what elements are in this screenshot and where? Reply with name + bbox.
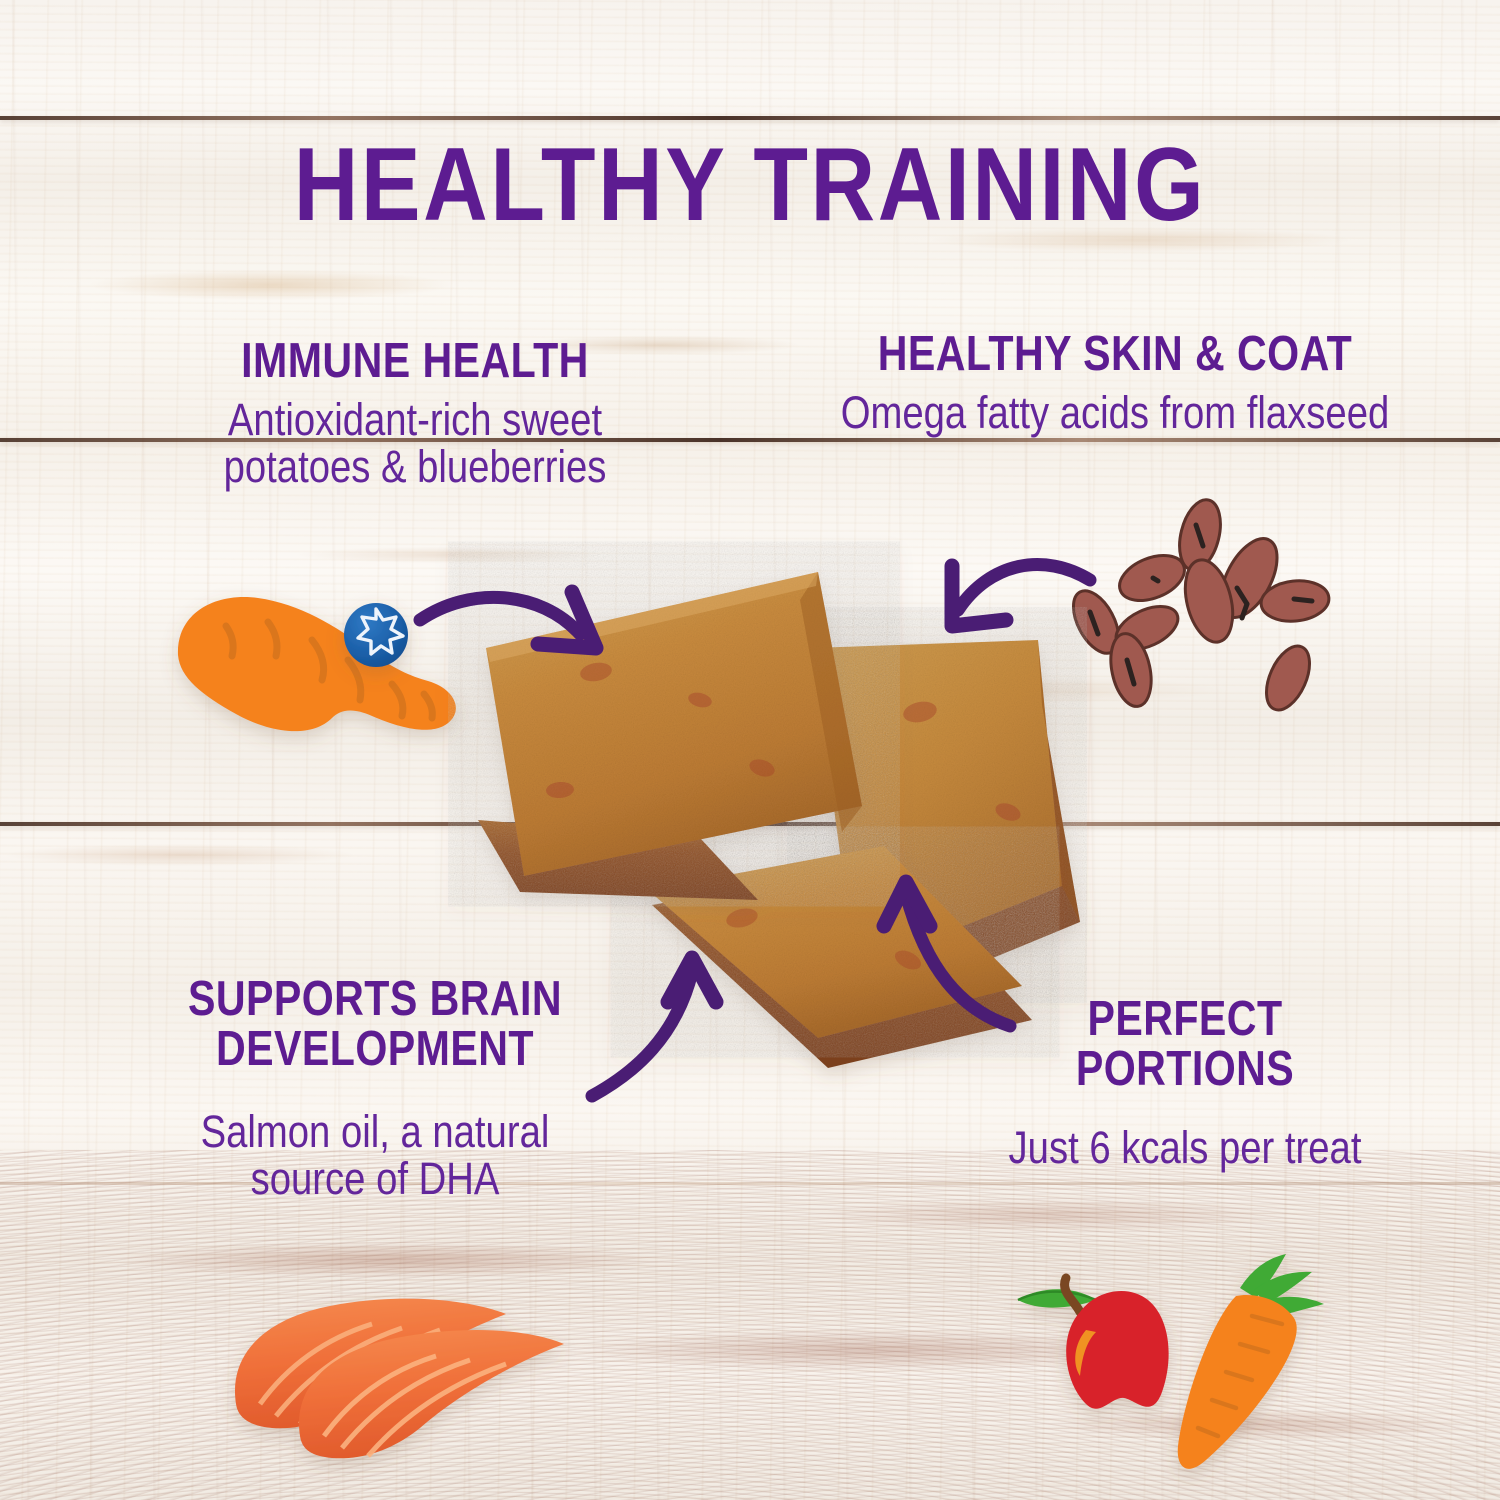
feature-heading-portions-line2: PORTIONS: [925, 1045, 1446, 1095]
plank-seam: [0, 822, 1500, 826]
feature-body-perfect-portions: Just 6 kcals per treat: [922, 1123, 1449, 1174]
feature-body-brain-line2: source of DHA: [95, 1154, 656, 1205]
feature-body-immune-health-line1: Antioxidant-rich sweet: [96, 395, 734, 446]
plank-seam: [0, 116, 1500, 120]
feature-supports-brain-development: SUPPORTS BRAIN DEVELOPMENT Salmon oil, a…: [45, 975, 705, 1205]
feature-heading-brain-line1: SUPPORTS BRAIN: [98, 975, 652, 1025]
feature-heading-healthy-skin-coat: HEALTHY SKIN & COAT: [796, 330, 1434, 380]
infographic-canvas: HEALTHY TRAINING IMMUNE HEALTH Antioxida…: [0, 0, 1500, 1500]
feature-heading-immune-health: IMMUNE HEALTH: [100, 337, 730, 387]
page-title: HEALTHY TRAINING: [105, 136, 1395, 235]
feature-heading-portions-line1: PERFECT: [925, 995, 1446, 1045]
feature-body-brain-line1: Salmon oil, a natural: [95, 1107, 656, 1158]
feature-body-healthy-skin-coat: Omega fatty acids from flaxseed: [792, 388, 1438, 439]
feature-body-immune-health-line2: potatoes & blueberries: [96, 442, 734, 493]
feature-immune-health: IMMUNE HEALTH Antioxidant-rich sweet pot…: [40, 337, 790, 493]
feature-perfect-portions: PERFECT PORTIONS Just 6 kcals per treat: [875, 995, 1495, 1174]
feature-heading-brain-line2: DEVELOPMENT: [98, 1025, 652, 1075]
feature-healthy-skin-coat: HEALTHY SKIN & COAT Omega fatty acids fr…: [735, 330, 1495, 439]
